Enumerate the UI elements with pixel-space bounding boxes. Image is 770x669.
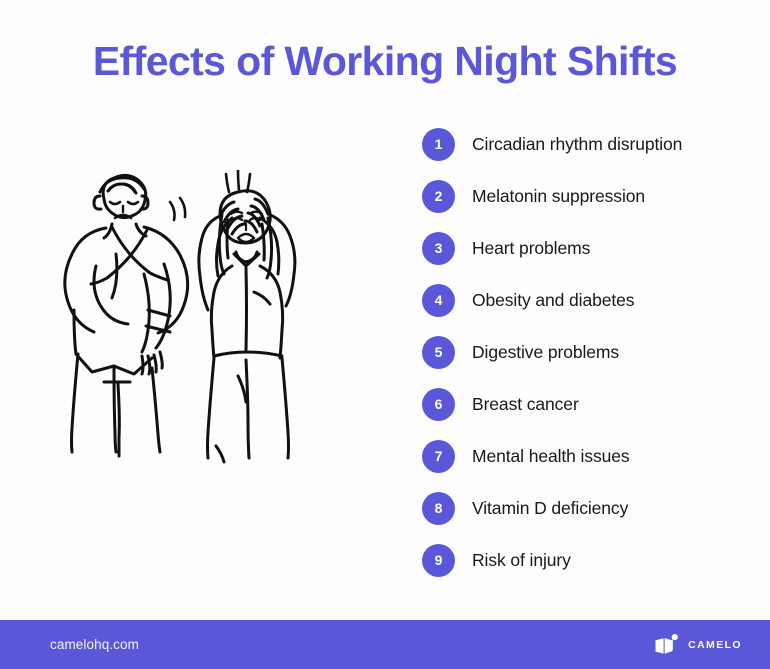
page-title: Effects of Working Night Shifts [0, 38, 770, 85]
list-item: 4 Obesity and diabetes [422, 282, 752, 318]
infographic-poster: Effects of Working Night Shifts [0, 0, 770, 669]
brand-name: CAMELO [688, 639, 742, 651]
list-item-badge: 3 [422, 232, 455, 265]
list-item: 5 Digestive problems [422, 334, 752, 370]
list-item-label: Vitamin D deficiency [472, 498, 628, 519]
figure-tired-man [65, 175, 188, 456]
list-item-label: Circadian rhythm disruption [472, 134, 682, 155]
effects-list: 1 Circadian rhythm disruption 2 Melatoni… [422, 126, 752, 578]
list-item-label: Melatonin suppression [472, 186, 645, 207]
list-item-label: Obesity and diabetes [472, 290, 634, 311]
list-item-label: Heart problems [472, 238, 590, 259]
list-item-badge: 2 [422, 180, 455, 213]
figure-stressed-woman [199, 170, 295, 462]
list-item-badge: 5 [422, 336, 455, 369]
list-item-label: Risk of injury [472, 550, 571, 571]
camelo-logo-icon [655, 634, 681, 656]
list-item: 6 Breast cancer [422, 386, 752, 422]
list-item-badge: 1 [422, 128, 455, 161]
list-item-label: Breast cancer [472, 394, 579, 415]
list-item-badge: 4 [422, 284, 455, 317]
list-item: 9 Risk of injury [422, 542, 752, 578]
footer-website-url[interactable]: camelohq.com [50, 637, 139, 652]
footer-bar: camelohq.com CAMELO [0, 620, 770, 669]
list-item-badge: 9 [422, 544, 455, 577]
list-item: 3 Heart problems [422, 230, 752, 266]
list-item-badge: 6 [422, 388, 455, 421]
tired-workers-illustration [52, 170, 372, 490]
list-item: 2 Melatonin suppression [422, 178, 752, 214]
list-item-badge: 7 [422, 440, 455, 473]
list-item: 7 Mental health issues [422, 438, 752, 474]
list-item: 8 Vitamin D deficiency [422, 490, 752, 526]
list-item-label: Digestive problems [472, 342, 619, 363]
list-item: 1 Circadian rhythm disruption [422, 126, 752, 162]
brand-lockup: CAMELO [655, 634, 742, 656]
list-item-badge: 8 [422, 492, 455, 525]
list-item-label: Mental health issues [472, 446, 630, 467]
